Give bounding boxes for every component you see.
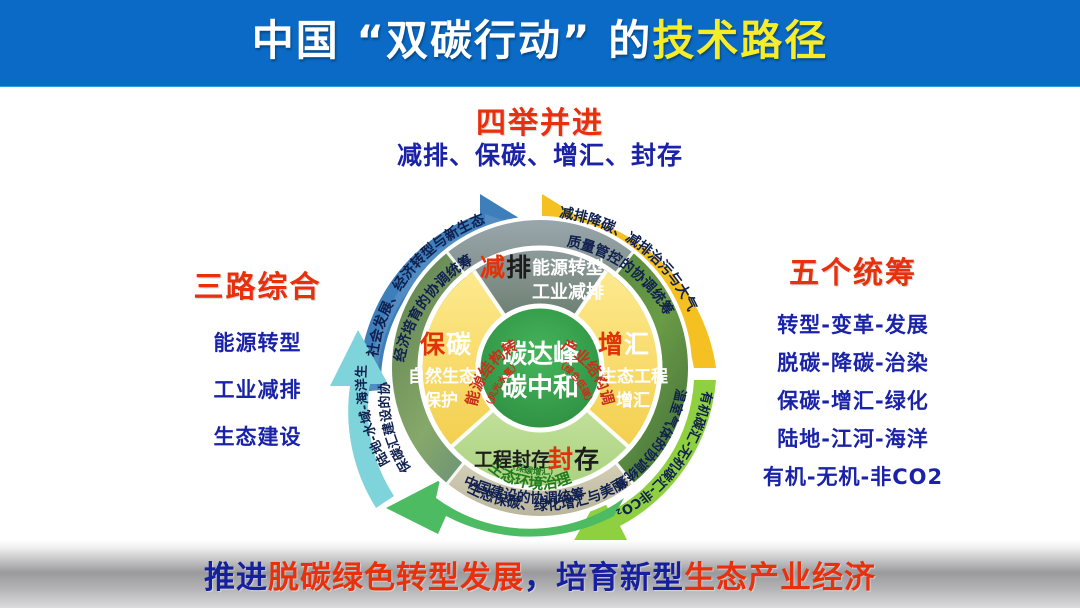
quadrant-baotan-rest: 碳 [446,330,472,359]
carbon-strategy-wheel: 碳达峰 碳中和 能源结构转型 （风光水氢） 产业结构调整 （绿色低碳） 生 [280,178,800,542]
top-subheading: 减排、保碳、增汇、封存 [0,136,1080,172]
quadrant-label-fengcun: 工程封存 封 存 [474,445,599,474]
quadrant-baotan-accent: 保 [419,330,446,359]
quadrant-zenghui-rest: 汇 [624,330,649,359]
quadrant-baotan-sub1: 自然生态 [408,366,476,387]
bottom-slogan-part3: ，培育新型 [524,560,684,596]
quadrant-zenghui-sub2: 增汇 [616,390,650,411]
quadrant-zenghui-accent: 增 [598,330,623,359]
quadrant-jianpai-accent: 减 [480,253,505,282]
quadrant-fengcun-sub1: 工程封存 [474,448,550,471]
quadrant-jianpai-sub1: 能源转型 [532,257,604,279]
bottom-slogan: 推进脱碳绿色转型发展，培育新型生态产业经济 [0,552,1080,597]
quadrant-jianpai-sub2: 工业减排 [532,281,604,303]
page-title-plain: 中国 “双碳行动” 的 [252,16,652,65]
slide-root: 中国 “双碳行动” 的技术路径 四举并进 减排、保碳、增汇、封存 三路综合 能源… [0,0,1080,608]
page-title: 中国 “双碳行动” 的技术路径 [0,8,1080,74]
bottom-slogan-part1: 推进 [204,560,268,596]
quadrant-fengcun-accent: 封 [548,445,573,474]
core-label-line2: 碳中和 [501,373,579,403]
quadrant-fengcun-rest: 存 [574,445,599,474]
quadrant-zenghui-sub1: 生态工程 [600,366,668,387]
quadrant-jianpai-rest: 排 [506,253,531,282]
bottom-slogan-part2: 脱碳绿色转型发展 [268,560,524,596]
bottom-slogan-part4: 生态产业经济 [684,560,876,596]
page-title-accent: 技术路径 [652,16,828,65]
quadrant-baotan-sub2: 保护 [423,390,458,411]
